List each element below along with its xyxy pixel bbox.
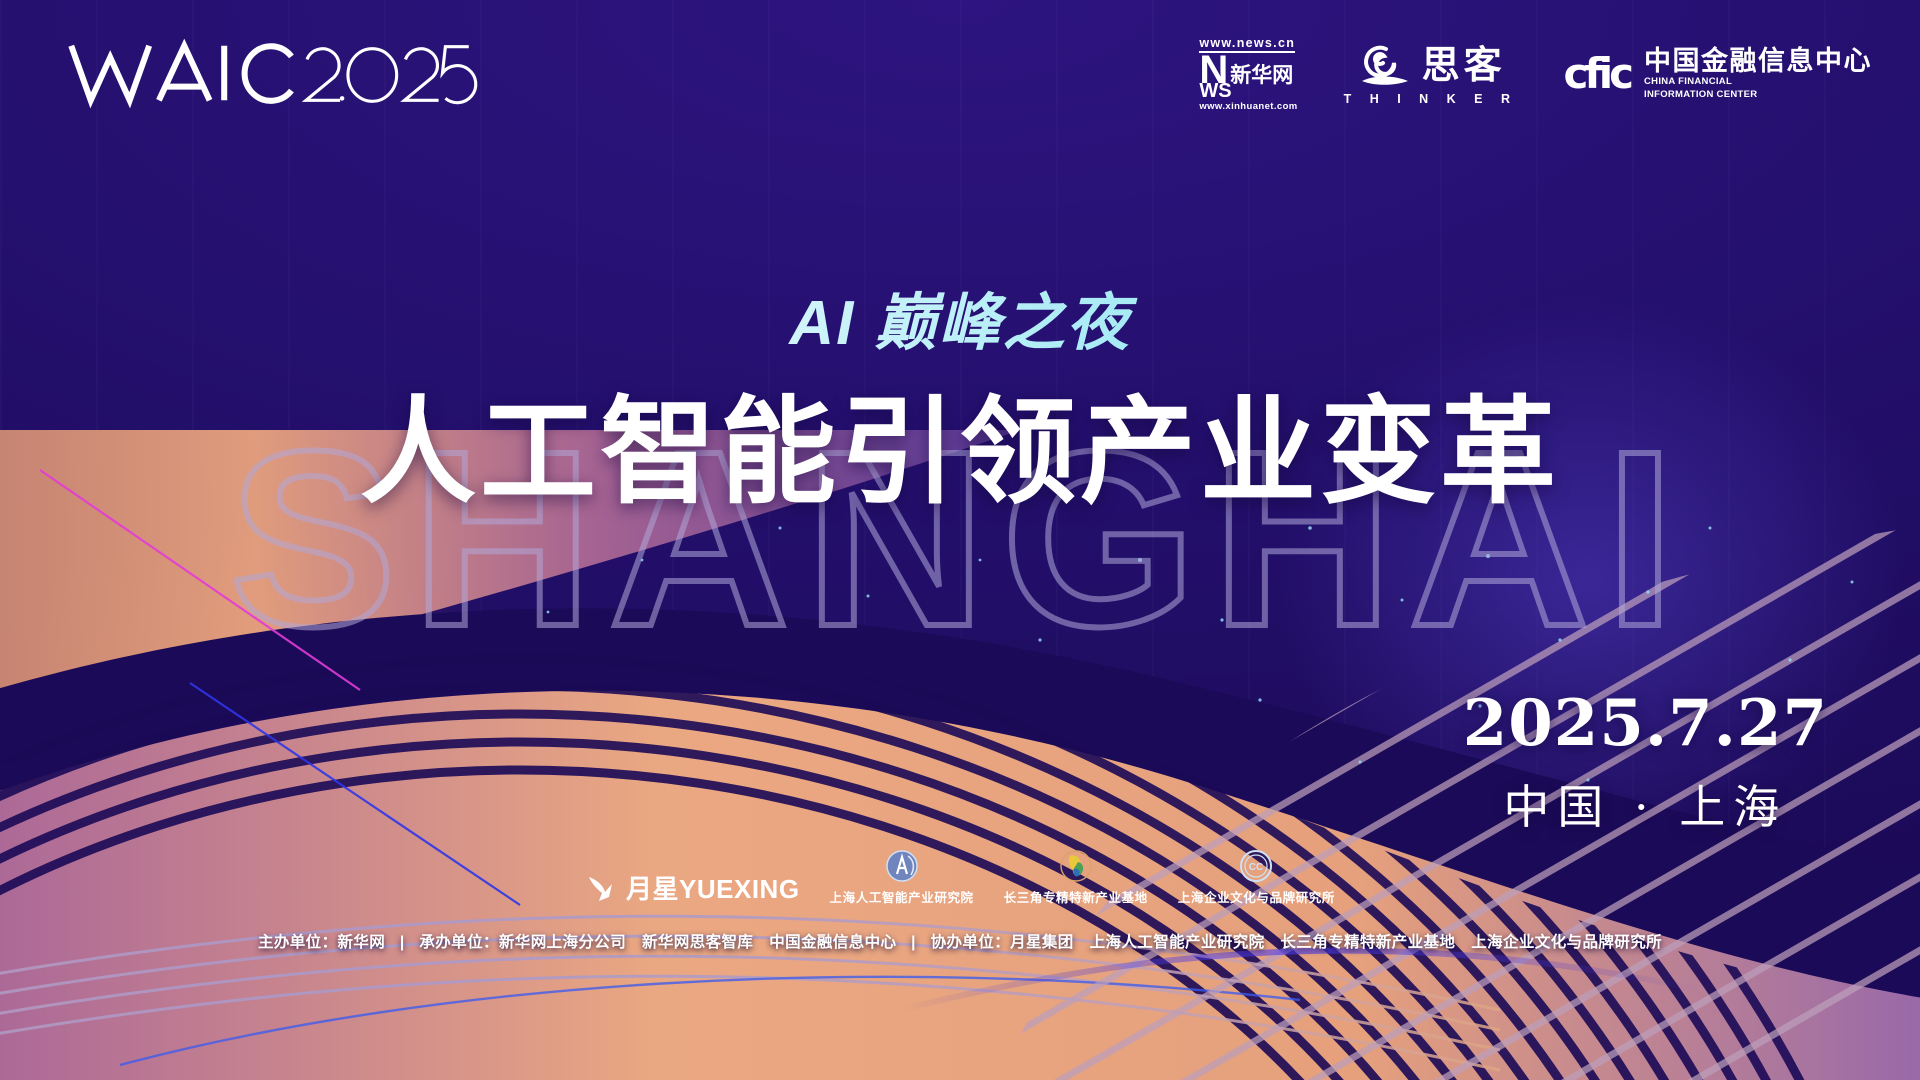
event-location: 中国 · 上海 bbox=[1463, 784, 1828, 830]
cfic-en-line1: CHINA FINANCIAL bbox=[1644, 77, 1872, 88]
cfic-cn-name: 中国金融信息中心 bbox=[1644, 47, 1872, 75]
sponsor-yangtze-delta-base[interactable]: 长三角专精特新产业基地 bbox=[1004, 848, 1148, 906]
credits-coorganizers: 月星集团 上海人工智能产业研究院 长三角专精特新产业基地 上海企业文化与品牌研究… bbox=[1010, 934, 1662, 951]
diagonal-rays bbox=[40, 470, 520, 905]
partner-logo-xinhua-news[interactable]: www.news.cn N 新华网 WS www.xinhuanet.com bbox=[1199, 36, 1297, 112]
sponsor-shanghai-ai-institute[interactable]: 上海人工智能产业研究院 bbox=[830, 848, 974, 906]
yuexing-name: 月星YUEXING bbox=[626, 869, 800, 906]
ai-institute-globe-icon bbox=[884, 848, 920, 884]
xinhua-cn-name: 新华网 bbox=[1230, 65, 1293, 86]
background-artwork bbox=[0, 0, 1920, 1080]
event-subtitle: AI 巅峰之夜 bbox=[0, 272, 1920, 362]
credits-separator-1: | bbox=[390, 934, 415, 952]
navy-valley bbox=[0, 608, 1920, 1080]
credits-coorganizer-label: 协办单位： bbox=[931, 934, 1011, 951]
sponsor-logos: 月星YUEXING 上海人工智能产业研究院 bbox=[0, 848, 1920, 906]
blue-glow-streak bbox=[900, 951, 1700, 1010]
yangtze-delta-emblem-icon bbox=[1058, 848, 1094, 884]
yuexing-star-icon bbox=[585, 871, 619, 905]
sponsor-shanghai-brand-institute[interactable]: CC 上海企业文化与品牌研究所 bbox=[1178, 848, 1335, 906]
credits-organizer-label: 主办单位： bbox=[258, 934, 338, 951]
event-date: 2025.7.27 bbox=[1463, 692, 1828, 756]
event-date-block: 2025.7.27 中国 · 上海 bbox=[1463, 692, 1828, 830]
credits-host-label: 承办单位： bbox=[419, 934, 499, 951]
event-headline: 人工智能引领产业变革 bbox=[0, 358, 1920, 526]
xinhua-url-bottom: www.xinhuanet.com bbox=[1199, 101, 1297, 112]
header: www.news.cn N 新华网 WS www.xinhuanet.com 思… bbox=[0, 0, 1920, 150]
xinhua-ws-text: WS bbox=[1199, 82, 1231, 100]
cfic-en-line2: INFORMATION CENTER bbox=[1644, 90, 1872, 101]
cfic-wordmark: cfic bbox=[1564, 55, 1630, 93]
credits-hosts: 新华网上海分公司 新华网思客智库 中国金融信息中心 bbox=[499, 934, 897, 951]
brand-institute-name: 上海企业文化与品牌研究所 bbox=[1178, 887, 1335, 906]
waic-logo bbox=[60, 36, 480, 112]
thinker-swirl-icon bbox=[1356, 41, 1412, 89]
credits-separator-2: | bbox=[901, 934, 926, 952]
credits-line: 主办单位：新华网 | 承办单位：新华网上海分公司 新华网思客智库 中国金融信息中… bbox=[0, 930, 1920, 952]
partner-logo-cfic[interactable]: cfic 中国金融信息中心 CHINA FINANCIAL INFORMATIO… bbox=[1564, 47, 1872, 101]
brand-institute-seal-icon: CC bbox=[1238, 848, 1274, 884]
svg-text:CC: CC bbox=[1249, 862, 1263, 873]
credits-organizer: 新华网 bbox=[337, 934, 385, 951]
poster-canvas: SHANGHAI bbox=[0, 0, 1920, 1080]
vertical-band-texture bbox=[0, 0, 1920, 1080]
thinker-en-name: T H I N K E R bbox=[1344, 92, 1518, 106]
partner-logos: www.news.cn N 新华网 WS www.xinhuanet.com 思… bbox=[1199, 36, 1872, 112]
partner-logo-thinker[interactable]: 思客 T H I N K E R bbox=[1344, 41, 1518, 106]
yangtze-delta-name: 长三角专精特新产业基地 bbox=[1004, 887, 1148, 906]
ai-institute-name: 上海人工智能产业研究院 bbox=[830, 887, 974, 906]
thinker-cn-name: 思客 bbox=[1422, 46, 1506, 84]
sponsor-yuexing[interactable]: 月星YUEXING bbox=[585, 869, 800, 906]
